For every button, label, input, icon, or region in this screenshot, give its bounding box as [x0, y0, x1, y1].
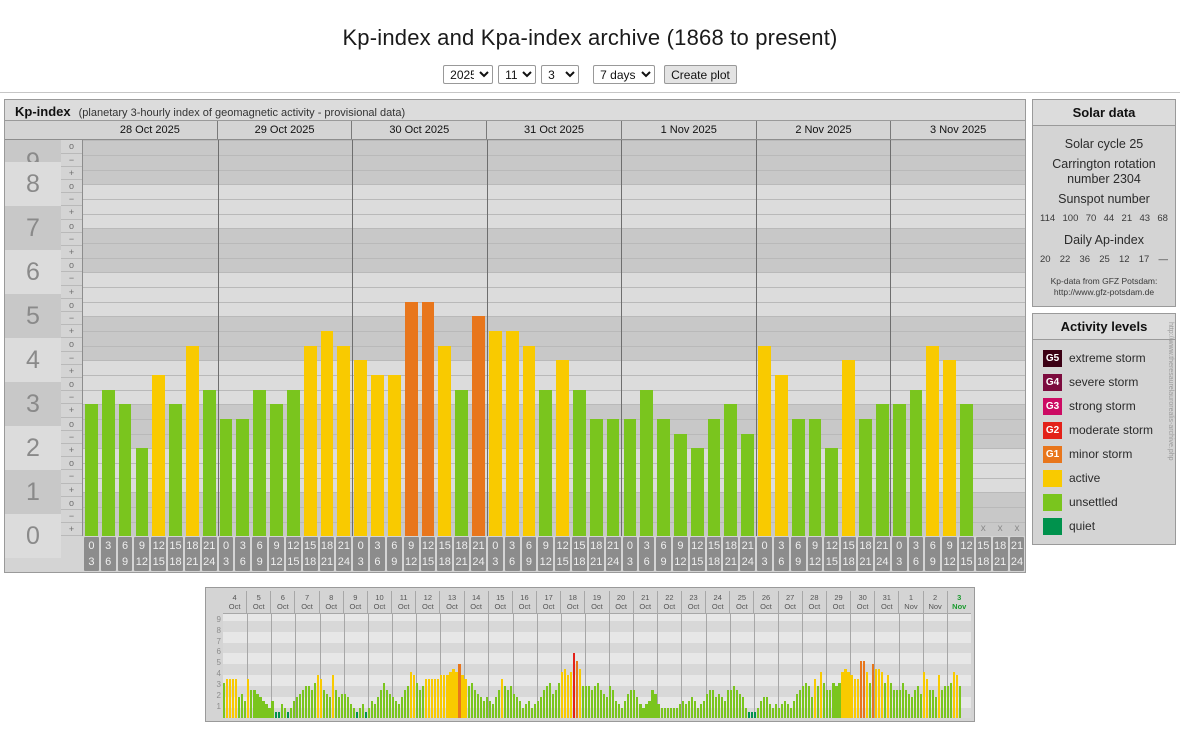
- overview-kp-bar: [458, 664, 460, 718]
- kp-bar[interactable]: [287, 390, 300, 537]
- kp-bar[interactable]: [472, 316, 485, 536]
- overview-kp-bar: [718, 694, 720, 719]
- overview-kp-bar: [914, 690, 916, 718]
- kp-bar[interactable]: [85, 404, 98, 536]
- kp-bar[interactable]: [573, 390, 586, 537]
- kp-bar[interactable]: [203, 390, 216, 537]
- kp-bar[interactable]: [893, 404, 906, 536]
- bar-slot[interactable]: [840, 140, 857, 536]
- activity-level-swatch: G5: [1043, 350, 1062, 367]
- kp-bar[interactable]: [859, 419, 872, 536]
- solar-data-panel: Solar data Solar cycle 25 Carrington rot…: [1032, 99, 1176, 307]
- kp-bar[interactable]: [152, 375, 165, 536]
- overview-kp-bar: [452, 669, 454, 719]
- hour-cell: 03: [219, 537, 234, 571]
- overview-kp-bar: [923, 672, 925, 719]
- hour-start: 12: [286, 538, 301, 554]
- ap-value: —: [1159, 254, 1169, 265]
- overview-kp-bar: [645, 704, 647, 718]
- kp-bar[interactable]: [758, 346, 771, 537]
- kp-bar[interactable]: [960, 404, 973, 536]
- hour-cell: 1821: [993, 537, 1008, 571]
- overview-kp-bar: [477, 694, 479, 719]
- activity-level-item[interactable]: quiet: [1043, 514, 1175, 538]
- overview-kp-bar: [615, 701, 617, 718]
- kp-bar[interactable]: [270, 404, 283, 536]
- overview-day-label: 4Oct: [223, 591, 247, 613]
- hour-start: 18: [589, 538, 604, 554]
- overview-day-number: 14: [465, 593, 488, 602]
- bar-slot[interactable]: [739, 140, 756, 536]
- kp-bar[interactable]: [169, 404, 182, 536]
- hour-end: 3: [623, 554, 638, 570]
- sunspot-value: 21: [1122, 213, 1133, 224]
- overview-kp-bar: [881, 672, 883, 719]
- overview-day-month: Oct: [537, 602, 560, 611]
- kp-bar[interactable]: [438, 346, 451, 537]
- kp-bar[interactable]: [405, 302, 418, 537]
- overview-kp-bar: [507, 690, 509, 718]
- bar-slot[interactable]: [218, 140, 235, 536]
- hour-start: 21: [606, 538, 621, 554]
- bar-slot[interactable]: [605, 140, 622, 536]
- sunspot-number-values: 1141007044214368: [1037, 212, 1171, 228]
- y-axis-label: 6: [5, 250, 61, 294]
- activity-level-item[interactable]: unsettled: [1043, 490, 1175, 514]
- kp-bar[interactable]: [607, 419, 620, 536]
- hour-end: 18: [303, 554, 318, 570]
- kp-bar[interactable]: [876, 404, 889, 536]
- bar-slot[interactable]: [234, 140, 251, 536]
- bar-slot[interactable]: [386, 140, 403, 536]
- overview-kp-bar: [483, 701, 485, 718]
- bar-slot[interactable]: [790, 140, 807, 536]
- bar-slot[interactable]: [891, 140, 908, 536]
- bar-slot[interactable]: [537, 140, 554, 536]
- bar-slot[interactable]: [857, 140, 874, 536]
- overview-kp-bar: [685, 704, 687, 718]
- kp-bar[interactable]: [337, 346, 350, 537]
- bar-slot[interactable]: [251, 140, 268, 536]
- bar-slot[interactable]: [706, 140, 723, 536]
- kp-bar[interactable]: [943, 360, 956, 536]
- hour-end: 6: [101, 554, 116, 570]
- overview-panel[interactable]: 987654321 4Oct5Oct6Oct7Oct8Oct9Oct10Oct1…: [205, 587, 975, 722]
- day-select[interactable]: 3: [541, 65, 579, 84]
- bar-slot[interactable]: [117, 140, 134, 536]
- kp-bar[interactable]: [388, 375, 401, 536]
- hour-cell: 36: [235, 537, 250, 571]
- hour-cell: 03: [892, 537, 907, 571]
- kp-bar[interactable]: [590, 419, 603, 536]
- overview-kp-bar: [860, 661, 862, 718]
- overview-kp-bar: [814, 679, 816, 718]
- overview-kp-bar: [706, 694, 708, 719]
- bar-slot[interactable]: [672, 140, 689, 536]
- ap-value: 25: [1099, 254, 1110, 265]
- hour-end: 12: [673, 554, 688, 570]
- hour-end: 3: [488, 554, 503, 570]
- bar-slot[interactable]: [335, 140, 352, 536]
- overview-day-number: 15: [489, 593, 512, 602]
- overview-day-month: Oct: [513, 602, 536, 611]
- hour-end: 24: [202, 554, 217, 570]
- hour-start: 18: [454, 538, 469, 554]
- kp-bar[interactable]: [910, 390, 923, 537]
- kp-bar[interactable]: [236, 419, 249, 536]
- overview-day-month: Oct: [585, 602, 608, 611]
- kp-bar[interactable]: [624, 419, 637, 536]
- main-content: Kp-index (planetary 3-hourly index of ge…: [0, 93, 1180, 573]
- hour-end: 15: [555, 554, 570, 570]
- activity-level-item[interactable]: G3strong storm: [1043, 394, 1175, 418]
- bar-slot[interactable]: x: [1009, 140, 1025, 536]
- bar-slot[interactable]: [167, 140, 184, 536]
- overview-y-labels: 987654321: [209, 613, 223, 717]
- create-plot-button[interactable]: Create plot: [664, 65, 737, 84]
- overview-day-month: Nov: [948, 602, 971, 611]
- hour-end: 9: [925, 554, 940, 570]
- bar-slot[interactable]: [470, 140, 487, 536]
- overview-kp-bar: [247, 679, 249, 718]
- kp-bar[interactable]: [926, 346, 939, 537]
- overview-kp-bar: [398, 704, 400, 718]
- overview-kp-bar: [754, 712, 756, 719]
- bar-slot[interactable]: [201, 140, 218, 536]
- kp-bar[interactable]: [825, 448, 838, 536]
- kp-bar[interactable]: [321, 331, 334, 536]
- hour-start: 6: [252, 538, 267, 554]
- bar-slot[interactable]: [285, 140, 302, 536]
- bar-slot[interactable]: [184, 140, 201, 536]
- sunspot-value: 114: [1040, 213, 1055, 224]
- bar-slot[interactable]: [521, 140, 538, 536]
- hour-start: 6: [118, 538, 133, 554]
- overview-kp-bar: [498, 690, 500, 718]
- activity-level-item[interactable]: active: [1043, 466, 1175, 490]
- overview-day-labels: 4Oct5Oct6Oct7Oct8Oct9Oct10Oct11Oct12Oct1…: [223, 591, 971, 613]
- bar-slot[interactable]: [689, 140, 706, 536]
- overview-kp-bar: [748, 712, 750, 719]
- y-axis-sub-label: −: [61, 154, 82, 167]
- y-axis-sub-label: +: [61, 444, 82, 457]
- overview-day-label: 11Oct: [392, 591, 416, 613]
- overview-kp-bar: [841, 672, 843, 719]
- hour-start: 12: [421, 538, 436, 554]
- kp-bar[interactable]: [691, 448, 704, 536]
- overview-kp-bar: [823, 683, 825, 719]
- hour-start: 15: [437, 538, 452, 554]
- hour-end: 9: [118, 554, 133, 570]
- overview-kp-bar: [938, 675, 940, 718]
- bar-slot[interactable]: [622, 140, 639, 536]
- overview-kp-bar: [455, 672, 457, 719]
- y-axis-sub-label: o: [61, 338, 82, 351]
- bar-slot[interactable]: [941, 140, 958, 536]
- hour-cell: 1215: [151, 537, 166, 571]
- sunspot-value: 43: [1139, 213, 1150, 224]
- y-axis-sub-label: −: [61, 312, 82, 325]
- overview-day-month: Oct: [465, 602, 488, 611]
- overview-kp-bar: [383, 683, 385, 719]
- hour-cell: 912: [269, 537, 284, 571]
- bar-slot[interactable]: [133, 140, 150, 536]
- y-axis-label: 1: [5, 470, 61, 514]
- bar-slot[interactable]: [420, 140, 437, 536]
- bar-slot[interactable]: x: [992, 140, 1009, 536]
- overview-kp-bar: [392, 697, 394, 719]
- y-axis-label: 4: [5, 338, 61, 382]
- hour-end: 24: [740, 554, 755, 570]
- overview-kp-bar: [223, 683, 225, 719]
- activity-level-label: severe storm: [1069, 375, 1138, 389]
- bar-slot[interactable]: [352, 140, 369, 536]
- overview-day-month: Nov: [924, 602, 947, 611]
- kp-bar[interactable]: [186, 346, 199, 537]
- kp-bar[interactable]: [724, 404, 737, 536]
- bar-slot[interactable]: [403, 140, 420, 536]
- y-axis-major-labels: 9876543210: [5, 140, 61, 536]
- bar-slot[interactable]: [487, 140, 504, 536]
- activity-level-item[interactable]: G4severe storm: [1043, 370, 1175, 394]
- overview-kp-bar: [347, 697, 349, 719]
- activity-level-item[interactable]: G1minor storm: [1043, 442, 1175, 466]
- overview-kp-bar: [941, 690, 943, 718]
- hour-start: 9: [808, 538, 823, 554]
- kp-bar[interactable]: [708, 419, 721, 536]
- hour-start: 15: [707, 538, 722, 554]
- overview-day-label: 31Oct: [875, 591, 899, 613]
- overview-day-number: 4: [223, 593, 246, 602]
- y-axis-label: 5: [5, 294, 61, 338]
- overview-kp-bar: [890, 683, 892, 719]
- hour-end: 24: [606, 554, 621, 570]
- bar-slot[interactable]: x: [975, 140, 992, 536]
- kp-bar[interactable]: [136, 448, 149, 536]
- overview-kp-bar: [320, 679, 322, 718]
- overview-day-month: Nov: [899, 602, 922, 611]
- hour-start: 3: [235, 538, 250, 554]
- hour-start: 12: [151, 538, 166, 554]
- kp-bar[interactable]: [539, 390, 552, 537]
- overview-kp-bar: [241, 694, 243, 719]
- bar-slot[interactable]: [655, 140, 672, 536]
- overview-kp-bar: [787, 704, 789, 718]
- overview-kp-bar: [600, 690, 602, 718]
- hour-end: 18: [437, 554, 452, 570]
- overview-day-label: 26Oct: [754, 591, 778, 613]
- overview-kp-bar: [329, 697, 331, 719]
- bar-slot[interactable]: [874, 140, 891, 536]
- y-axis-label: 7: [5, 206, 61, 250]
- overview-kp-bar: [362, 704, 364, 718]
- daily-ap-index-values: 202236251217—: [1037, 253, 1171, 269]
- overview-wrapper: 987654321 4Oct5Oct6Oct7Oct8Oct9Oct10Oct1…: [0, 587, 1180, 722]
- hour-start: 0: [757, 538, 772, 554]
- overview-kp-bar: [820, 672, 822, 719]
- kp-bar[interactable]: [809, 419, 822, 536]
- kp-bar[interactable]: [102, 390, 115, 537]
- overview-kp-bar: [377, 697, 379, 719]
- bar-slot[interactable]: [638, 140, 655, 536]
- kp-bar[interactable]: [354, 360, 367, 536]
- hour-end: 15: [286, 554, 301, 570]
- overview-kp-bar: [407, 686, 409, 719]
- overview-kp-bar: [688, 701, 690, 718]
- overview-day-month: Oct: [440, 602, 463, 611]
- overview-kp-bar: [899, 690, 901, 718]
- bar-slot[interactable]: [773, 140, 790, 536]
- kp-bar[interactable]: [506, 331, 519, 536]
- overview-day-month: Oct: [754, 602, 777, 611]
- overview-kp-bar: [259, 697, 261, 719]
- hour-start: 6: [791, 538, 806, 554]
- bar-slot[interactable]: [268, 140, 285, 536]
- kp-bar[interactable]: [556, 360, 569, 536]
- kp-bar[interactable]: [220, 419, 233, 536]
- overview-kp-bar: [365, 712, 367, 719]
- hour-cell: 03: [623, 537, 638, 571]
- kp-bar[interactable]: [119, 404, 132, 536]
- overview-kp-bar: [287, 712, 289, 719]
- kp-bar[interactable]: [523, 346, 536, 537]
- hour-start: 0: [84, 538, 99, 554]
- kp-panel-subtitle: (planetary 3-hourly index of geomagnetic…: [79, 107, 406, 119]
- kp-bar[interactable]: [253, 390, 266, 537]
- range-select[interactable]: 7 days: [593, 65, 655, 84]
- bar-slot[interactable]: [924, 140, 941, 536]
- overview-kp-bar: [275, 712, 277, 719]
- hour-end: 9: [252, 554, 267, 570]
- hour-cell: 2124: [202, 537, 217, 571]
- overview-day-number: 20: [610, 593, 633, 602]
- bar-slot[interactable]: [302, 140, 319, 536]
- solar-data-body: Solar cycle 25 Carrington rotation numbe…: [1033, 126, 1175, 306]
- overview-kp-bar: [760, 701, 762, 718]
- kp-bar[interactable]: [792, 419, 805, 536]
- overview-kp-bar: [516, 697, 518, 719]
- overview-kp-bar: [229, 679, 231, 718]
- bar-slot[interactable]: [150, 140, 167, 536]
- hour-start: 15: [303, 538, 318, 554]
- overview-day-label: 14Oct: [465, 591, 489, 613]
- kp-bar[interactable]: [371, 375, 384, 536]
- kp-bar[interactable]: [674, 434, 687, 537]
- kp-bar[interactable]: [422, 302, 435, 537]
- overview-day-label: 30Oct: [851, 591, 875, 613]
- hour-start: 18: [320, 538, 335, 554]
- bar-slot[interactable]: [504, 140, 521, 536]
- overview-kp-bar: [857, 679, 859, 718]
- kp-bar[interactable]: [741, 434, 754, 537]
- kp-bar[interactable]: [775, 375, 788, 536]
- bar-slot[interactable]: [571, 140, 588, 536]
- bar-slot[interactable]: [908, 140, 925, 536]
- overview-kp-bar: [591, 690, 593, 718]
- bar-slot[interactable]: [722, 140, 739, 536]
- activity-level-item[interactable]: G2moderate storm: [1043, 418, 1175, 442]
- hour-cell: 69: [387, 537, 402, 571]
- overview-day-month: Oct: [295, 602, 318, 611]
- overview-inner: 987654321 4Oct5Oct6Oct7Oct8Oct9Oct10Oct1…: [209, 591, 971, 718]
- overview-kp-bar: [724, 701, 726, 718]
- bar-slot[interactable]: [958, 140, 975, 536]
- hour-start: 18: [858, 538, 873, 554]
- hour-cell: 1518: [841, 537, 856, 571]
- hour-cell: 1821: [185, 537, 200, 571]
- overview-kp-bar: [504, 686, 506, 719]
- bar-slot[interactable]: [823, 140, 840, 536]
- bar-slot[interactable]: [100, 140, 117, 536]
- kp-bar[interactable]: [489, 331, 502, 536]
- overview-kp-bar: [639, 704, 641, 718]
- kp-bar[interactable]: [640, 390, 653, 537]
- kp-bar-chart: xxx: [83, 140, 1025, 536]
- sunspot-number-label: Sunspot number: [1037, 192, 1171, 207]
- y-axis-sub-label: +: [61, 206, 82, 219]
- kp-bar[interactable]: [657, 419, 670, 536]
- overview-kp-bar: [410, 672, 412, 719]
- hour-start: 9: [673, 538, 688, 554]
- bar-slot[interactable]: [83, 140, 100, 536]
- overview-kp-bar: [618, 704, 620, 718]
- overview-kp-bar: [540, 697, 542, 719]
- overview-kp-bar: [305, 686, 307, 719]
- hour-end: 12: [808, 554, 823, 570]
- hour-cell: 912: [538, 537, 553, 571]
- activity-level-item[interactable]: G5extreme storm: [1043, 346, 1175, 370]
- kp-bar[interactable]: [455, 390, 468, 537]
- overview-day-label: 17Oct: [537, 591, 561, 613]
- y-axis-sub-label: o: [61, 220, 82, 233]
- overview-kp-bar: [344, 694, 346, 719]
- month-select[interactable]: 11: [498, 65, 536, 84]
- hour-end: 3: [353, 554, 368, 570]
- hour-cell: 1518: [707, 537, 722, 571]
- y-axis-sub-label: −: [61, 510, 82, 523]
- overview-day-number: 26: [754, 593, 777, 602]
- hour-start: 6: [387, 538, 402, 554]
- sunspot-value: 68: [1157, 213, 1168, 224]
- overview-kp-bar: [238, 697, 240, 719]
- bar-slot[interactable]: [319, 140, 336, 536]
- overview-kp-bar: [893, 690, 895, 718]
- overview-day-month: Oct: [489, 602, 512, 611]
- overview-day-number: 27: [779, 593, 802, 602]
- overview-day-number: 21: [634, 593, 657, 602]
- kp-bar[interactable]: [842, 360, 855, 536]
- bar-slot[interactable]: [554, 140, 571, 536]
- bar-slot[interactable]: [436, 140, 453, 536]
- bar-slot[interactable]: [807, 140, 824, 536]
- overview-day-number: 23: [682, 593, 705, 602]
- overview-kp-bar: [835, 686, 837, 719]
- overview-kp-bar: [648, 701, 650, 718]
- y-axis-sub-label: −: [61, 391, 82, 404]
- hour-cell: 69: [925, 537, 940, 571]
- bar-slot[interactable]: [756, 140, 773, 536]
- bar-group: xxx: [83, 140, 1025, 536]
- overview-kp-bar: [468, 686, 470, 719]
- year-select[interactable]: 2025: [443, 65, 493, 84]
- kp-bar[interactable]: [304, 346, 317, 537]
- bar-slot[interactable]: [453, 140, 470, 536]
- hour-cell: 912: [673, 537, 688, 571]
- bar-slot[interactable]: [588, 140, 605, 536]
- overview-kp-bar: [884, 683, 886, 719]
- bar-slot[interactable]: [369, 140, 386, 536]
- hour-start: 18: [185, 538, 200, 554]
